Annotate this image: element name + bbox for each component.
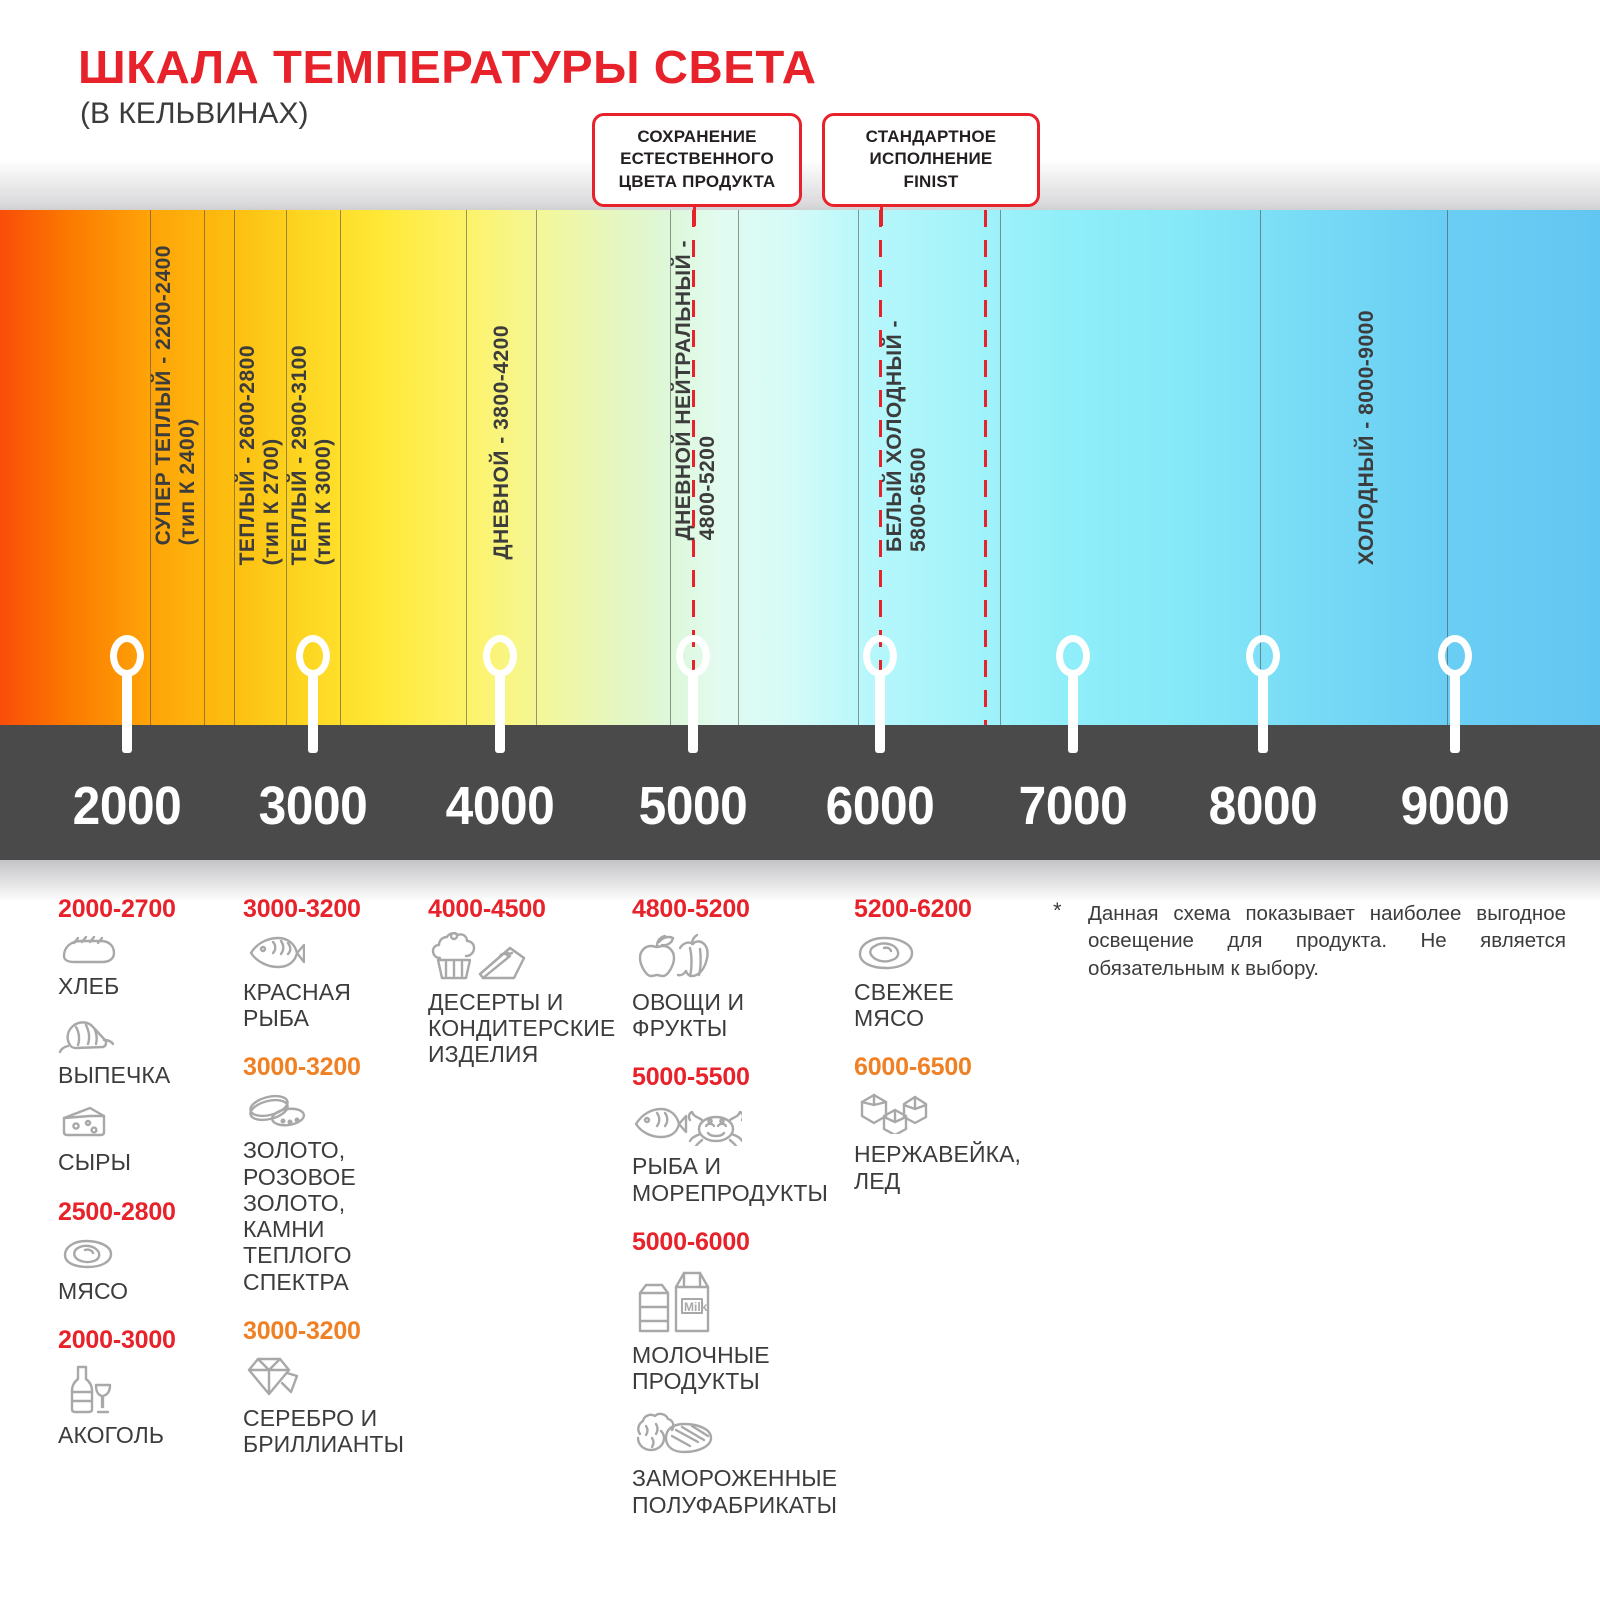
croissant-icon — [58, 1013, 238, 1060]
callout-line: СОХРАНЕНИЕ — [605, 126, 789, 148]
legend-item[interactable]: ДЕСЕРТЫ И КОНДИТЕРСКИЕ ИЗДЕЛИЯ — [428, 932, 623, 1068]
band-label-1: СУПЕР ТЕПЛЫЙ - 2200-2400 (тип К 2400) — [152, 245, 200, 545]
band-label-4: ДНЕВНОЙ - 3800-4200 — [490, 325, 514, 559]
legend-column-5: 5200-6200СВЕЖЕЕ МЯСО6000-6500НЕРЖАВЕЙКА,… — [854, 895, 1039, 1216]
marker-stem — [308, 673, 318, 753]
legend-group: 5000-6000MilkМОЛОЧНЫЕ ПРОДУКТЫЗАМОРОЖЕНН… — [632, 1228, 847, 1518]
band-label-2: ТЕПЛЫЙ - 2600-2800 (тип К 2700) — [236, 345, 284, 565]
legend-group: 3000-3200КРАСНАЯ РЫБА — [243, 895, 428, 1031]
callout-line: ИСПОЛНЕНИЕ — [835, 148, 1027, 170]
legend-group: 2000-3000АКОГОЛЬ — [58, 1326, 238, 1448]
band-separator-11 — [1000, 210, 1001, 725]
legend-range-label: 4000-4500 — [428, 895, 623, 924]
fish-crab-icon — [632, 1100, 847, 1151]
marker-stem — [1258, 673, 1268, 753]
footnote-marker: * — [1053, 898, 1062, 924]
legend-item-label: АКОГОЛЬ — [58, 1422, 238, 1448]
gold-rings-icon — [243, 1090, 428, 1135]
legend-group: 4800-5200ОВОЩИ И ФРУКТЫ — [632, 895, 847, 1041]
scale-tick-label-4000: 4000 — [446, 775, 555, 837]
legend-range-label: 4800-5200 — [632, 895, 847, 924]
band-separator-9 — [738, 210, 739, 725]
marker-head-icon — [296, 635, 330, 677]
frozen-food-icon — [632, 1408, 847, 1463]
band-label-5: ДНЕВНОЙ НЕЙТРАЛЬНЫЙ - 4800-5200 — [672, 240, 720, 540]
band-separator-2 — [204, 210, 205, 725]
legend-range-label: 2000-3000 — [58, 1326, 238, 1355]
milk-label: Milk — [684, 1300, 707, 1314]
page-subtitle: (В КЕЛЬВИНАХ) — [80, 97, 308, 131]
marker-head-icon — [863, 635, 897, 677]
legend-group: 4000-4500ДЕСЕРТЫ И КОНДИТЕРСКИЕ ИЗДЕЛИЯ — [428, 895, 623, 1068]
legend-item-label: РЫБА И МОРЕПРОДУКТЫ — [632, 1153, 847, 1205]
marker-stem — [122, 673, 132, 753]
legend-item[interactable]: КРАСНАЯ РЫБА — [243, 932, 428, 1031]
legend-item[interactable]: МЯСО — [58, 1235, 238, 1304]
scale-tick-label-3000: 3000 — [259, 775, 368, 837]
band-separator-6 — [466, 210, 467, 725]
legend-item-label: МОЛОЧНЫЕ ПРОДУКТЫ — [632, 1342, 847, 1394]
legend-group: 6000-6500НЕРЖАВЕЙКА, ЛЕД — [854, 1053, 1039, 1193]
legend-item[interactable]: ЗОЛОТО, РОЗОВОЕ ЗОЛОТО, КАМНИ ТЕПЛОГО СП… — [243, 1090, 428, 1294]
marker-head-icon — [1246, 635, 1280, 677]
legend-item-label: ЗАМОРОЖЕННЫЕ ПОЛУФАБРИКАТЫ — [632, 1465, 847, 1517]
callout-box-1[interactable]: СОХРАНЕНИЕЕСТЕСТВЕННОГОЦВЕТА ПРОДУКТА — [592, 113, 802, 207]
band-separator-4 — [286, 210, 287, 725]
legend-group: 5200-6200СВЕЖЕЕ МЯСО — [854, 895, 1039, 1031]
legend-item[interactable]: АКОГОЛЬ — [58, 1363, 238, 1448]
ice-cubes-icon — [854, 1090, 1039, 1139]
legend-item[interactable]: СЕРЕБРО И БРИЛЛИАНТЫ — [243, 1354, 428, 1457]
legend-range-label: 6000-6500 — [854, 1053, 1039, 1082]
scale-tick-label-9000: 9000 — [1401, 775, 1510, 837]
legend-group: 2000-2700ХЛЕБВЫПЕЧКАСЫРЫ — [58, 895, 238, 1176]
steak-icon — [58, 1235, 238, 1276]
legend-column-2: 3000-3200КРАСНАЯ РЫБА3000-3200ЗОЛОТО, РО… — [243, 895, 428, 1479]
scale-dark-bar — [0, 725, 1600, 860]
dessert-icon — [428, 932, 623, 987]
callout-line: СТАНДАРТНОЕ — [835, 126, 1027, 148]
legend-item-label: СЫРЫ — [58, 1149, 238, 1175]
legend-range-label: 3000-3200 — [243, 1053, 428, 1082]
callout-line: FINIST — [835, 171, 1027, 193]
legend-item[interactable]: СВЕЖЕЕ МЯСО — [854, 932, 1039, 1031]
legend-group: 3000-3200ЗОЛОТО, РОЗОВОЕ ЗОЛОТО, КАМНИ Т… — [243, 1053, 428, 1294]
legend-item-label: НЕРЖАВЕЙКА, ЛЕД — [854, 1141, 1039, 1193]
legend-range-label: 2000-2700 — [58, 895, 238, 924]
page-title: ШКАЛА ТЕМПЕРАТУРЫ СВЕТА — [78, 40, 817, 94]
band-separator-1 — [150, 210, 151, 725]
legend-group: 5000-5500РЫБА И МОРЕПРОДУКТЫ — [632, 1063, 847, 1205]
product-legend: 2000-2700ХЛЕБВЫПЕЧКАСЫРЫ2500-2800МЯСО200… — [0, 895, 1600, 1600]
band-separator-3 — [234, 210, 235, 725]
legend-item[interactable]: СЫРЫ — [58, 1102, 238, 1175]
callout-box-2[interactable]: СТАНДАРТНОЕИСПОЛНЕНИЕFINIST — [822, 113, 1040, 207]
legend-group: 3000-3200СЕРЕБРО И БРИЛЛИАНТЫ — [243, 1317, 428, 1457]
marker-head-icon — [1056, 635, 1090, 677]
marker-stem — [495, 673, 505, 753]
legend-item-label: СВЕЖЕЕ МЯСО — [854, 979, 1039, 1031]
legend-item-label: КРАСНАЯ РЫБА — [243, 979, 428, 1031]
legend-item-label: ХЛЕБ — [58, 973, 238, 999]
band-label-6: БЕЛЫЙ ХОЛОДНЫЙ - 5800-6500 — [883, 320, 931, 552]
legend-range-label: 5000-6000 — [632, 1228, 847, 1257]
marker-head-icon — [110, 635, 144, 677]
band-separator-5 — [340, 210, 341, 725]
scale-tick-label-6000: 6000 — [826, 775, 935, 837]
cheese-icon — [58, 1102, 238, 1147]
legend-item[interactable]: ОВОЩИ И ФРУКТЫ — [632, 932, 847, 1041]
diamond-icon — [243, 1354, 428, 1403]
legend-item-label: МЯСО — [58, 1278, 238, 1304]
legend-item[interactable]: НЕРЖАВЕЙКА, ЛЕД — [854, 1090, 1039, 1193]
legend-item-label: СЕРЕБРО И БРИЛЛИАНТЫ — [243, 1405, 428, 1457]
alcohol-icon — [58, 1363, 238, 1420]
callout-line: ЦВЕТА ПРОДУКТА — [605, 171, 789, 193]
red-fish-icon — [243, 932, 428, 977]
legend-range-label: 5000-5500 — [632, 1063, 847, 1092]
scale-tick-label-8000: 8000 — [1209, 775, 1318, 837]
legend-group: 2500-2800МЯСО — [58, 1198, 238, 1304]
marker-stem — [688, 673, 698, 753]
marker-stem — [875, 673, 885, 753]
scale-tick-label-5000: 5000 — [639, 775, 748, 837]
band-separator-10 — [858, 210, 859, 725]
bread-icon — [58, 932, 238, 971]
color-temperature-gradient-bar: СУПЕР ТЕПЛЫЙ - 2200-2400 (тип К 2400)ТЕП… — [0, 210, 1600, 725]
legend-range-label: 5200-6200 — [854, 895, 1039, 924]
marker-head-icon — [676, 635, 710, 677]
legend-column-1: 2000-2700ХЛЕБВЫПЕЧКАСЫРЫ2500-2800МЯСО200… — [58, 895, 238, 1470]
scale-tick-label-7000: 7000 — [1019, 775, 1128, 837]
band-label-7: ХОЛОДНЫЙ - 8000-9000 — [1355, 310, 1379, 565]
marker-stem — [1450, 673, 1460, 753]
footnote-text: Данная схема показывает наиболее выгодно… — [1088, 900, 1566, 982]
legend-item[interactable]: ВЫПЕЧКА — [58, 1013, 238, 1088]
dashed-indicator-3 — [984, 210, 987, 725]
legend-item-label: ЗОЛОТО, РОЗОВОЕ ЗОЛОТО, КАМНИ ТЕПЛОГО СП… — [243, 1137, 428, 1294]
fruits-vegetables-icon — [632, 932, 847, 987]
legend-item[interactable]: ХЛЕБ — [58, 932, 238, 999]
band-separator-7 — [536, 210, 537, 725]
marker-head-icon — [483, 635, 517, 677]
legend-item-label: ДЕСЕРТЫ И КОНДИТЕРСКИЕ ИЗДЕЛИЯ — [428, 989, 623, 1068]
fresh-meat-icon — [854, 932, 1039, 977]
legend-range-label: 3000-3200 — [243, 1317, 428, 1346]
legend-range-label: 3000-3200 — [243, 895, 428, 924]
legend-item[interactable]: РЫБА И МОРЕПРОДУКТЫ — [632, 1100, 847, 1205]
legend-item[interactable]: ЗАМОРОЖЕННЫЕ ПОЛУФАБРИКАТЫ — [632, 1408, 847, 1517]
band-separator-8 — [670, 210, 671, 725]
milk-carton-icon: Milk — [632, 1265, 847, 1340]
scale-tick-label-2000: 2000 — [73, 775, 182, 837]
callout-line: ЕСТЕСТВЕННОГО — [605, 148, 789, 170]
marker-stem — [1068, 673, 1078, 753]
legend-column-3: 4000-4500ДЕСЕРТЫ И КОНДИТЕРСКИЕ ИЗДЕЛИЯ — [428, 895, 623, 1090]
legend-item-label: ВЫПЕЧКА — [58, 1062, 238, 1088]
marker-head-icon — [1438, 635, 1472, 677]
legend-range-label: 2500-2800 — [58, 1198, 238, 1227]
band-label-3: ТЕПЛЫЙ - 2900-3100 (тип К 3000) — [288, 345, 336, 565]
legend-item[interactable]: MilkМОЛОЧНЫЕ ПРОДУКТЫ — [632, 1265, 847, 1394]
legend-column-4: 4800-5200ОВОЩИ И ФРУКТЫ5000-5500РЫБА И М… — [632, 895, 847, 1540]
legend-item-label: ОВОЩИ И ФРУКТЫ — [632, 989, 847, 1041]
